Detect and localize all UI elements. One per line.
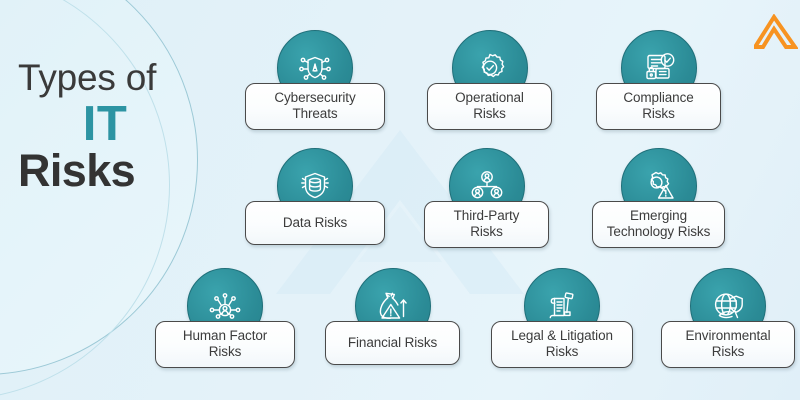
- risk-card-plate[interactable]: Environmental Risks: [661, 321, 795, 368]
- risk-card-plate[interactable]: Operational Risks: [427, 83, 552, 130]
- risk-card-label: Human Factor Risks: [183, 328, 267, 361]
- risk-card-label: Financial Risks: [348, 335, 437, 351]
- infographic-canvas: Types of IT Risks Cybersecurity Threats …: [0, 0, 800, 400]
- headline-line-3-risks: Risks: [18, 147, 198, 195]
- risk-card-plate[interactable]: Financial Risks: [325, 321, 460, 365]
- page-title: Types of IT Risks: [18, 58, 198, 195]
- risk-card-label: Cybersecurity Threats: [274, 90, 355, 123]
- orange-triangle-logo: [754, 14, 798, 50]
- risk-card-plate[interactable]: Cybersecurity Threats: [245, 83, 385, 130]
- risk-card-plate[interactable]: Data Risks: [245, 201, 385, 245]
- risk-card-plate[interactable]: Legal & Litigation Risks: [491, 321, 633, 368]
- risk-card-label: Compliance Risks: [623, 90, 693, 123]
- risk-card-label: Third-Party Risks: [454, 208, 520, 241]
- headline-line-2-it: IT: [18, 99, 198, 151]
- risk-card-plate[interactable]: Third-Party Risks: [424, 201, 549, 248]
- risk-card-label: Operational Risks: [455, 90, 524, 123]
- headline-line-1: Types of: [18, 58, 198, 97]
- risk-card-label: Environmental Risks: [686, 328, 771, 361]
- risk-card-plate[interactable]: Compliance Risks: [596, 83, 721, 130]
- risk-card-plate[interactable]: Human Factor Risks: [155, 321, 295, 368]
- risk-card-plate[interactable]: Emerging Technology Risks: [592, 201, 725, 248]
- risk-card-label: Data Risks: [283, 215, 347, 231]
- risk-card-label: Legal & Litigation Risks: [511, 328, 613, 361]
- risk-card-label: Emerging Technology Risks: [607, 208, 710, 241]
